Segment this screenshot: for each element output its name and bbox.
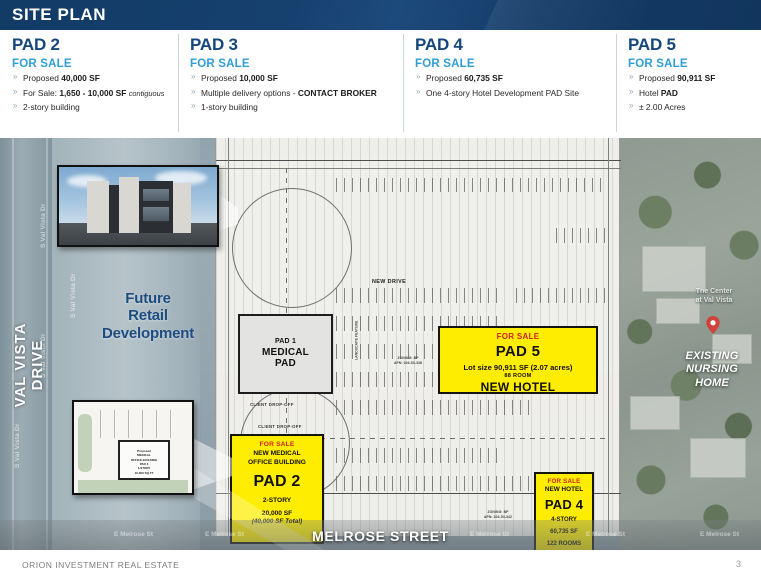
future-retail-development-label: Future Retail Development: [78, 290, 218, 342]
footer-page-number: 3: [736, 559, 741, 569]
pad5-lotsize-label: Lot size 90,911 SF (2.07 acres): [440, 363, 596, 372]
list-item: 1-story building: [190, 102, 393, 113]
val-vista-drive-label: VAL VISTA DRIVE: [12, 295, 46, 435]
plan-stall-line: [170, 410, 171, 438]
pad4-status: FOR SALE: [415, 58, 606, 70]
poi-label: The Center at Val Vista: [674, 288, 754, 306]
plan-stall-line: [100, 410, 101, 438]
list-item: Proposed 10,000 SF: [190, 73, 393, 84]
pad5-rooms-label: 88 ROOM: [440, 373, 596, 380]
client-dropoff-label: CLIENT DROP-OFF: [250, 402, 294, 407]
pad4-forsale-label: FOR SALE: [536, 478, 592, 485]
plan-landscape: [78, 414, 92, 472]
page-footer: ORION INVESTMENT REAL ESTATE 3: [0, 550, 761, 588]
building-rendering-inset[interactable]: [57, 165, 219, 247]
pad2-status: FOR SALE: [12, 58, 168, 70]
client-dropoff-label: CLIENT DROP-OFF: [258, 424, 302, 429]
pad4-bullets: Proposed 60,735 SF One 4-story Hotel Dev…: [415, 73, 606, 99]
map-pin-icon: [706, 316, 720, 334]
plan-building-block: Proposed MEDICAL OFFICE BUILDING PAD 3 1…: [118, 440, 170, 480]
cad-boundary-line: [216, 168, 621, 169]
pad3-bullets: Proposed 10,000 SF Multiple delivery opt…: [190, 73, 393, 114]
pad2-bullets: Proposed 40,000 SF For Sale: 1,650 - 10,…: [12, 73, 168, 114]
pad1-label-line3: PAD: [275, 358, 296, 370]
rendering-glass-band: [143, 207, 169, 221]
aerial-building: [642, 246, 706, 292]
page-header-bar: SITE PLAN: [0, 0, 761, 30]
pad2-sub-line2: OFFICE BUILDING: [232, 459, 322, 467]
ghost-street-label: S Val Vista Dr: [40, 203, 47, 248]
rendering-building-mass: [119, 177, 139, 233]
pad2-name-label: PAD 2: [232, 472, 322, 491]
pad3-title: PAD 3: [190, 36, 393, 55]
pad2-sub-line1: NEW MEDICAL: [232, 450, 322, 458]
pad5-forsale-label: FOR SALE: [440, 332, 596, 342]
parking-row: [336, 178, 606, 192]
satellite-base-right: [620, 138, 761, 550]
pad5-bullets: Proposed 90,911 SF Hotel PAD ± 2.00 Acre…: [628, 73, 751, 114]
site-plan-map[interactable]: S Val Vista Dr S Val Vista Dr S Val Vist…: [0, 138, 761, 550]
plan-stall-line: [128, 410, 129, 438]
pad4-name-label: PAD 4: [536, 497, 592, 513]
parking-row: [556, 228, 608, 243]
pad1-building[interactable]: PAD 1 MEDICAL PAD: [238, 314, 333, 394]
existing-nursing-home-label: EXISTING NURSING HOME: [664, 350, 760, 390]
melrose-street-label: MELROSE STREET: [0, 528, 761, 544]
list-item: Hotel PAD: [628, 88, 751, 99]
site-plan-page: SITE PLAN PAD 2 FOR SALE Proposed 40,000…: [0, 0, 761, 588]
pad-summary-row: PAD 2 FOR SALE Proposed 40,000 SF For Sa…: [0, 30, 761, 138]
pad1-label-line1: PAD 1: [275, 338, 296, 346]
rendering-building-mass: [173, 183, 191, 233]
list-item: Proposed 40,000 SF: [12, 73, 168, 84]
pad4-title: PAD 4: [415, 36, 606, 55]
pad5-use-label: NEW HOTEL: [440, 380, 596, 394]
rendering-building-mass: [109, 185, 119, 233]
rendering-glass-band: [143, 189, 169, 201]
plan-stall-line: [142, 410, 143, 438]
pad1-label-line2: MEDICAL: [262, 347, 309, 359]
pad2-size-label: 20,000 SF: [232, 509, 322, 518]
pad5-callout[interactable]: FOR SALE PAD 5 Lot size 90,911 SF (2.07 …: [438, 326, 598, 394]
cad-boundary-line: [228, 138, 229, 536]
list-item: Multiple delivery options - CONTACT BROK…: [190, 88, 393, 99]
site-plan-detail-inset[interactable]: Proposed MEDICAL OFFICE BUILDING PAD 3 1…: [72, 400, 194, 495]
pad5-title: PAD 5: [628, 36, 751, 55]
pad-column-pad4: PAD 4 FOR SALE Proposed 60,735 SF One 4-…: [403, 30, 616, 138]
list-item: ± 2.00 Acres: [628, 102, 751, 113]
parking-row: [516, 288, 606, 303]
pad2-forsale-label: FOR SALE: [232, 441, 322, 449]
pad2-title: PAD 2: [12, 36, 168, 55]
list-item: Proposed 90,911 SF: [628, 73, 751, 84]
pad-column-pad2: PAD 2 FOR SALE Proposed 40,000 SF For Sa…: [0, 30, 178, 138]
parking-row: [336, 448, 501, 463]
plan-stall-line: [156, 410, 157, 438]
zoning-annotation: ZONING: BP APN: 304-53-342: [476, 510, 520, 519]
plan-landscape: [78, 480, 188, 494]
list-item: 2-story building: [12, 102, 168, 113]
list-item: For Sale: 1,650 - 10,000 SF contiguous: [12, 88, 168, 99]
aerial-building: [690, 438, 746, 478]
cad-boundary-line: [608, 138, 609, 536]
zoning-annotation: ZONING: BP APN: 304-53-338: [386, 356, 430, 365]
parking-row: [336, 400, 531, 415]
cad-curve: [232, 188, 352, 308]
page-title: SITE PLAN: [12, 5, 106, 25]
pad-column-pad3: PAD 3 FOR SALE Proposed 10,000 SF Multip…: [178, 30, 403, 138]
cad-boundary-line: [216, 160, 621, 161]
aerial-building: [630, 396, 680, 430]
list-item: Proposed 60,735 SF: [415, 73, 606, 84]
pad3-status: FOR SALE: [190, 58, 393, 70]
pad-column-pad5: PAD 5 FOR SALE Proposed 90,911 SF Hotel …: [616, 30, 761, 138]
parking-row: [336, 288, 501, 303]
new-drive-label: NEW DRIVE: [372, 279, 406, 285]
footer-brand: ORION INVESTMENT REAL ESTATE: [22, 560, 179, 570]
pad5-status: FOR SALE: [628, 58, 751, 70]
pad4-sub-label: NEW HOTEL: [536, 486, 592, 494]
rendering-building-mass: [87, 181, 109, 233]
landscape-feature-annotation: LANDSCAPE FEATURE: [355, 317, 360, 363]
pad2-stories-label: 2-STORY: [232, 496, 322, 505]
list-item: One 4-story Hotel Development PAD Site: [415, 88, 606, 99]
plan-stall-line: [114, 410, 115, 438]
ghost-street-label: S Val Vista Dr: [70, 273, 77, 318]
pad5-name-label: PAD 5: [440, 343, 596, 361]
